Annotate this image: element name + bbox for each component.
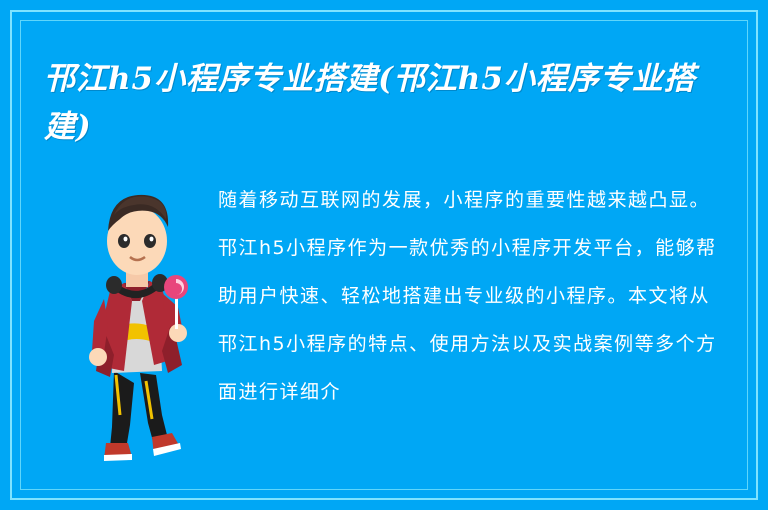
character-arm-left — [89, 299, 108, 366]
character-head — [107, 195, 168, 275]
poster-canvas: 邗江h5小程序专业搭建(邗江h5小程序专业搭建) — [0, 0, 768, 510]
character-illustration — [62, 175, 212, 465]
body-paragraph: 随着移动互联网的发展，小程序的重要性越来越凸显。邗江h5小程序作为一款优秀的小程… — [218, 176, 728, 416]
page-title: 邗江h5小程序专业搭建(邗江h5小程序专业搭建) — [44, 55, 734, 151]
